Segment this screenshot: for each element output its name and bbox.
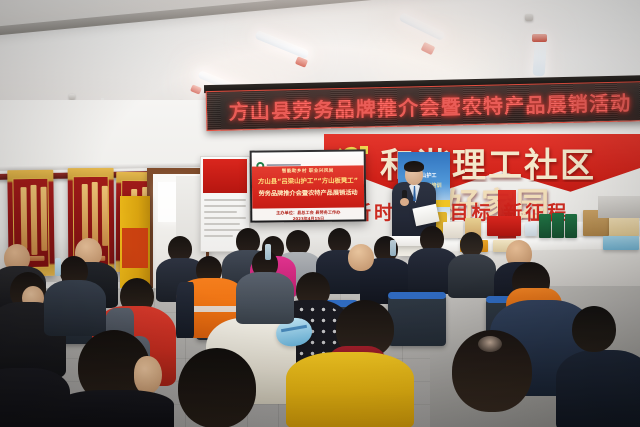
product-box: [525, 222, 537, 236]
audience-yellow-jacket: [286, 352, 414, 427]
speaker-hand: [400, 198, 409, 206]
slide-footer-date: 2023年4月15日: [255, 215, 361, 220]
audience-shoulder: [556, 350, 640, 427]
led-banner-text: 方山县劳务品牌推介会暨农特产品展销活动: [207, 86, 640, 125]
audience-shoulder: [0, 368, 70, 427]
product-box: [443, 222, 463, 238]
slide-title-line-1: 方山县“吕梁山护工”“方山板凳工”: [255, 175, 361, 185]
slide-header-small: 智能助乡村 职业兴风尚: [255, 167, 361, 174]
audience-face: [134, 356, 162, 394]
water-bottle: [265, 244, 271, 260]
audience-dark-top: [56, 390, 174, 427]
poster-board-header: [203, 159, 247, 193]
scalp-highlight: [478, 336, 502, 352]
shelf-unit: [598, 196, 640, 218]
speaker-hair: [404, 161, 424, 172]
water-bottle: [55, 258, 61, 276]
light-glow: [370, 24, 510, 84]
water-bottle: [390, 240, 396, 256]
audience-jacket: [44, 280, 106, 336]
slide-logo-icon: [256, 155, 302, 164]
audience-sleeve: [176, 282, 194, 338]
slide-title-block: 智能助乡村 职业兴风尚 方山县“吕梁山护工”“方山板凳工” 劳务品牌推介会暨农特…: [252, 165, 364, 208]
product-jar: [565, 214, 577, 238]
product-box: [487, 216, 521, 236]
audience-head: [572, 306, 616, 352]
photo-canvas: 方山县劳务品牌推介会暨农特产品展销活动 和谐理工社区 好家园 新时代 新目标 新…: [0, 0, 640, 427]
projection-screen-frame: 智能助乡村 职业兴风尚 方山县“吕梁山护工”“方山板凳工” 劳务品牌推介会暨农特…: [250, 149, 367, 222]
sprinkler-head: [525, 14, 533, 21]
audience-gray-jacket: [236, 272, 294, 324]
ceiling-light-cap: [532, 34, 547, 42]
audience-head: [178, 348, 256, 427]
fire-cabinet-panel: [122, 228, 148, 268]
product-jar: [552, 213, 564, 238]
product-box: [603, 236, 639, 250]
projection-screen: 智能助乡村 职业兴风尚 方山县“吕梁山护工”“方山板凳工” 劳务品牌推介会暨农特…: [252, 151, 365, 220]
slide-title-line-2: 劳务品牌推介会暨农特产品展销活动: [255, 187, 361, 197]
product-jar: [539, 214, 551, 238]
